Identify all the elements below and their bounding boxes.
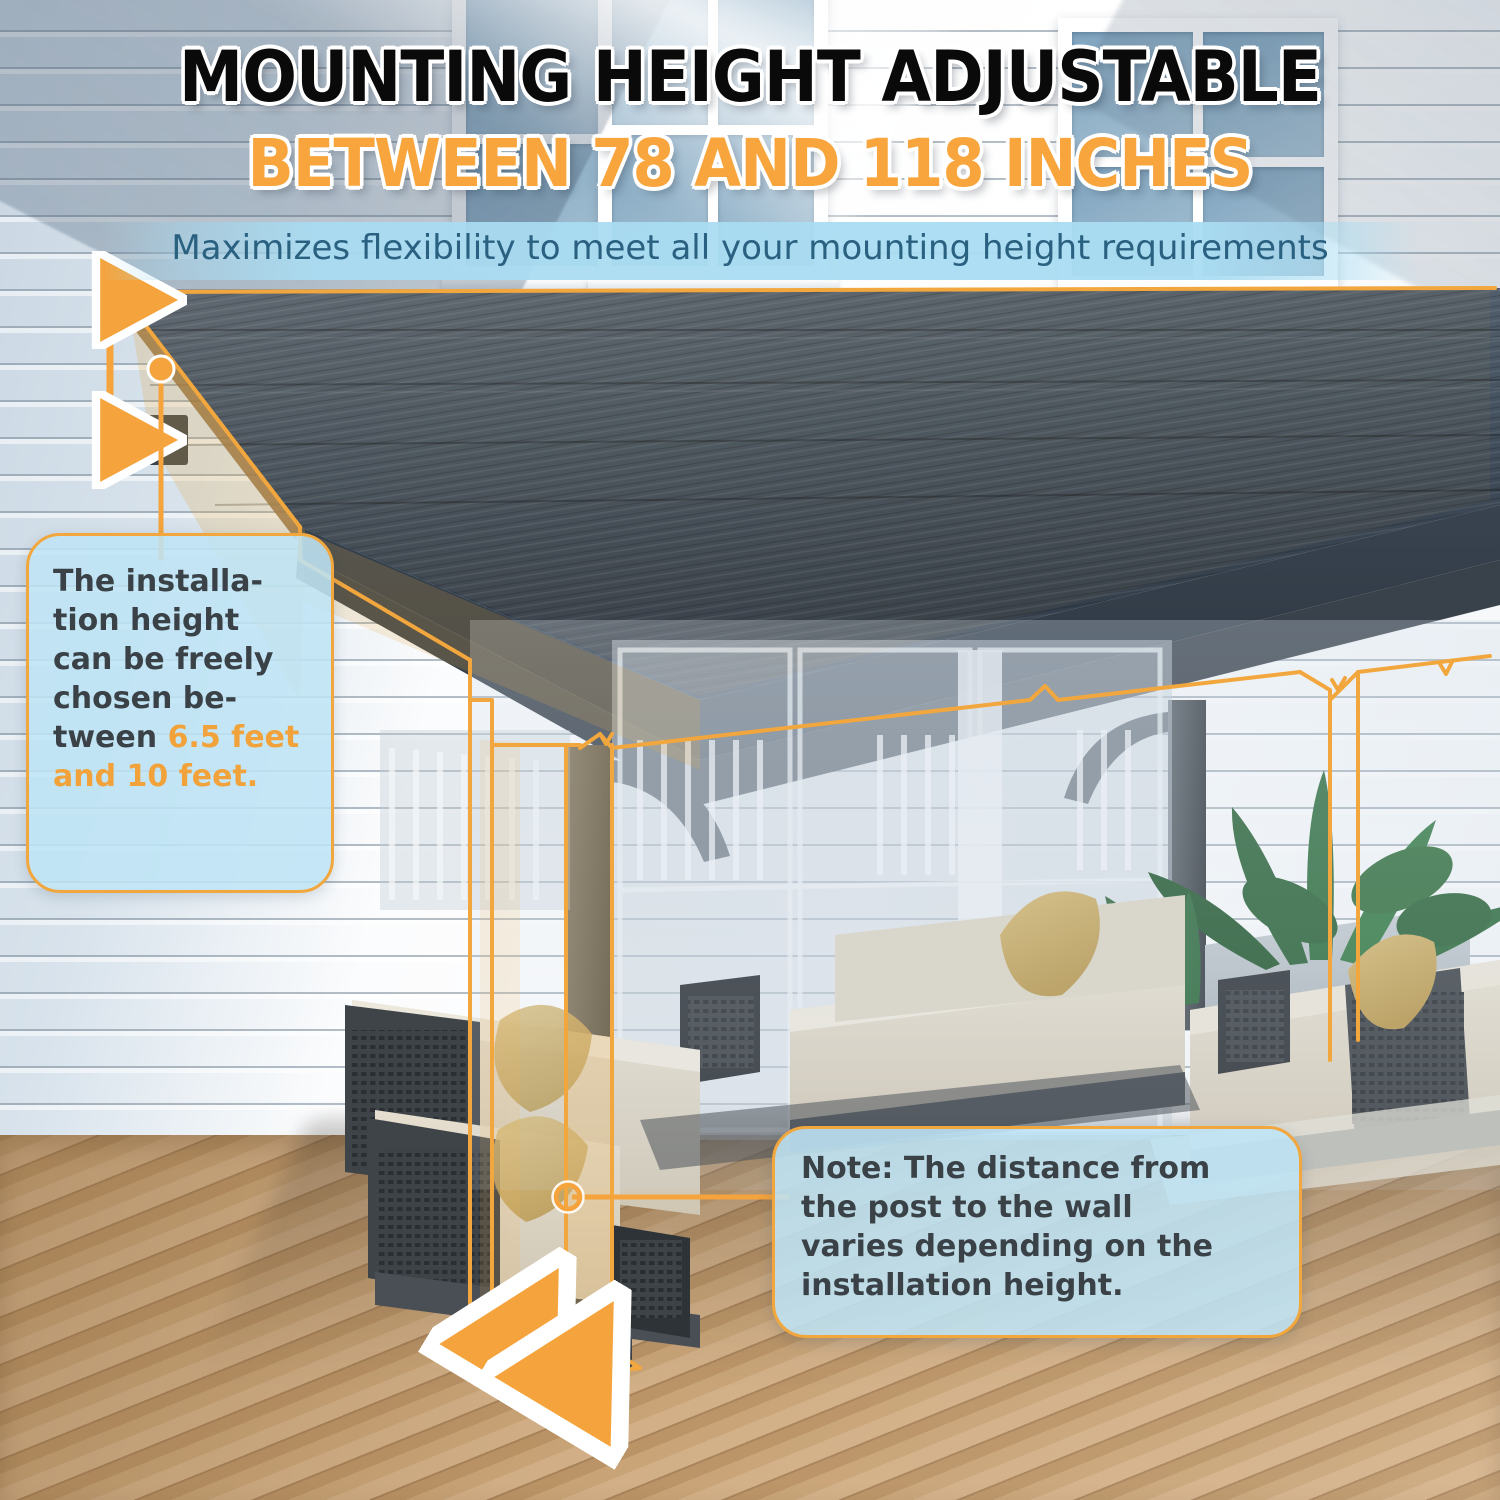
callout-note-line-4: installation height. <box>801 1268 1124 1303</box>
callout-left-line-2: tion height <box>53 603 239 638</box>
sectional-sofa-left <box>345 1000 700 1348</box>
callout-left-line-5-prefix: tween <box>53 720 168 755</box>
side-table-3 <box>612 1225 690 1338</box>
callout-left-line-4: chosen be- <box>53 681 237 716</box>
callout-note-post-distance: Note: The distance from the post to the … <box>772 1126 1302 1338</box>
subtitle-text: Maximizes flexibility to meet all your m… <box>0 228 1500 268</box>
callout-left-highlight-max: and 10 feet. <box>53 759 258 794</box>
infographic-canvas: MOUNTING HEIGHT ADJUSTABLE BETWEEN 78 AN… <box>0 0 1500 1500</box>
side-table-2 <box>1218 970 1290 1074</box>
headline-secondary: BETWEEN 78 AND 118 INCHES <box>60 130 1440 197</box>
callout-left-line-1: The installa- <box>53 564 263 599</box>
callout-note-line-1: Note: The distance from <box>801 1151 1210 1186</box>
railing-left <box>380 730 570 910</box>
wall-mount-bracket <box>110 415 188 465</box>
callout-note-line-3: varies depending on the <box>801 1229 1213 1264</box>
callout-left-highlight-min: 6.5 feet <box>168 720 300 755</box>
headline-primary: MOUNTING HEIGHT ADJUSTABLE <box>60 42 1440 113</box>
callout-note-line-2: the post to the wall <box>801 1190 1133 1225</box>
callout-left-line-3: can be freely <box>53 642 273 677</box>
callout-installation-height: The installa- tion height can be freely … <box>26 533 334 893</box>
